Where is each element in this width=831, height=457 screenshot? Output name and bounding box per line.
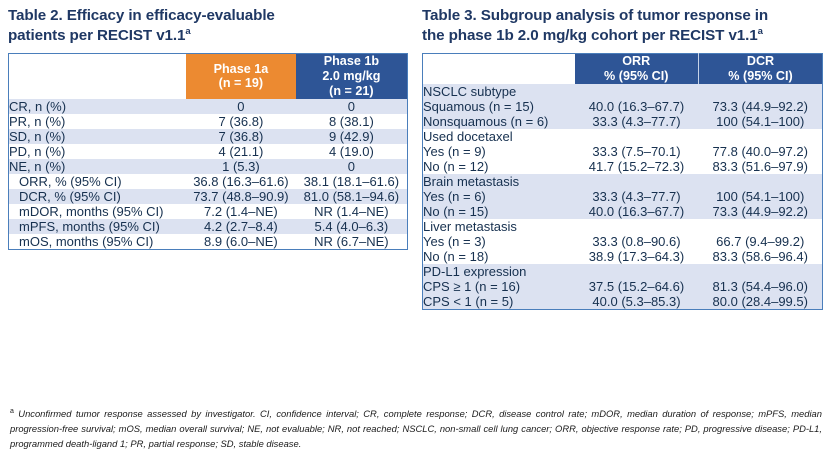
table3-header-row: ORR % (95% CI) DCR % (95% CI) xyxy=(423,54,823,84)
row-value-phase1b: NR (1.4–NE) xyxy=(296,204,408,219)
row-label: Nonsquamous (n = 6) xyxy=(423,114,575,129)
table2-panel: Table 2. Efficacy in efficacy-evaluable … xyxy=(8,6,408,310)
group-name: Used docetaxel xyxy=(423,129,823,144)
row-value-dcr: 80.0 (28.4–99.5) xyxy=(699,294,823,310)
table-row: NE, n (%) 1 (5.3) 0 xyxy=(9,159,408,174)
table2-efficacy: Phase 1a (n = 19) Phase 1b 2.0 mg/kg (n … xyxy=(8,53,408,250)
table3-header-dcr: DCR % (95% CI) xyxy=(699,54,823,84)
footnote-marker: a xyxy=(10,408,14,415)
row-value-phase1a: 7 (36.8) xyxy=(186,114,296,129)
row-label: No (n = 18) xyxy=(423,249,575,264)
row-label: ORR, % (95% CI) xyxy=(9,174,187,189)
row-value-phase1b: 4 (19.0) xyxy=(296,144,408,159)
group-header-row: Used docetaxel xyxy=(423,129,823,144)
row-value-phase1a: 1 (5.3) xyxy=(186,159,296,174)
row-value-orr: 37.5 (15.2–64.6) xyxy=(575,279,699,294)
row-value-dcr: 83.3 (58.6–96.4) xyxy=(699,249,823,264)
table3-panel: Table 3. Subgroup analysis of tumor resp… xyxy=(422,6,823,310)
row-value-dcr: 73.3 (44.9–92.2) xyxy=(699,99,823,114)
row-label: No (n = 12) xyxy=(423,159,575,174)
table2-header-phase1a: Phase 1a (n = 19) xyxy=(186,54,296,99)
table-row: mOS, months (95% CI) 8.9 (6.0–NE) NR (6.… xyxy=(9,234,408,250)
table-row: Yes (n = 9) 33.3 (7.5–70.1) 77.8 (40.0–9… xyxy=(423,144,823,159)
row-value-phase1b: 38.1 (18.1–61.6) xyxy=(296,174,408,189)
row-label: Yes (n = 3) xyxy=(423,234,575,249)
row-label: DCR, % (95% CI) xyxy=(9,189,187,204)
table2-header-phase1b: Phase 1b 2.0 mg/kg (n = 21) xyxy=(296,54,408,99)
group-name: PD-L1 expression xyxy=(423,264,823,279)
table-row: Yes (n = 6) 33.3 (4.3–77.7) 100 (54.1–10… xyxy=(423,189,823,204)
row-value-orr: 38.9 (17.3–64.3) xyxy=(575,249,699,264)
row-label: No (n = 15) xyxy=(423,204,575,219)
table-row: No (n = 18) 38.9 (17.3–64.3) 83.3 (58.6–… xyxy=(423,249,823,264)
row-value-orr: 40.0 (5.3–85.3) xyxy=(575,294,699,310)
row-value-phase1b: 0 xyxy=(296,159,408,174)
table2-header-phase1b-line3: (n = 21) xyxy=(329,84,373,98)
table-row: DCR, % (95% CI) 73.7 (48.8–90.9) 81.0 (5… xyxy=(9,189,408,204)
group-header-row: PD-L1 expression xyxy=(423,264,823,279)
table3-header-dcr-line2: % (95% CI) xyxy=(728,69,792,83)
table-row: CPS ≥ 1 (n = 16) 37.5 (15.2–64.6) 81.3 (… xyxy=(423,279,823,294)
table3-header-orr-line2: % (95% CI) xyxy=(604,69,668,83)
table-row: CPS < 1 (n = 5) 40.0 (5.3–85.3) 80.0 (28… xyxy=(423,294,823,310)
table3-subgroup: ORR % (95% CI) DCR % (95% CI) NSCLC subt… xyxy=(422,53,823,310)
poster-tables-page: Table 2. Efficacy in efficacy-evaluable … xyxy=(0,0,831,457)
row-value-orr: 41.7 (15.2–72.3) xyxy=(575,159,699,174)
row-value-phase1a: 4.2 (2.7–8.4) xyxy=(186,219,296,234)
table2-header-phase1a-line2: (n = 19) xyxy=(219,76,263,90)
row-value-dcr: 100 (54.1–100) xyxy=(699,189,823,204)
table-row: No (n = 15) 40.0 (16.3–67.7) 73.3 (44.9–… xyxy=(423,204,823,219)
row-label: SD, n (%) xyxy=(9,129,187,144)
row-label: mOS, months (95% CI) xyxy=(9,234,187,250)
row-value-phase1b: 8 (38.1) xyxy=(296,114,408,129)
table2-header-phase1b-line2: 2.0 mg/kg xyxy=(322,69,380,83)
row-label: mDOR, months (95% CI) xyxy=(9,204,187,219)
table3-title-footnote-marker: a xyxy=(758,26,763,37)
table3-header: ORR % (95% CI) DCR % (95% CI) xyxy=(423,54,823,84)
subgroup-block-used-docetaxel: Used docetaxel Yes (n = 9) 33.3 (7.5–70.… xyxy=(423,129,823,174)
row-value-phase1a: 4 (21.1) xyxy=(186,144,296,159)
row-label: Yes (n = 9) xyxy=(423,144,575,159)
row-value-phase1b: 9 (42.9) xyxy=(296,129,408,144)
table-row: No (n = 12) 41.7 (15.2–72.3) 83.3 (51.6–… xyxy=(423,159,823,174)
table-row: Yes (n = 3) 33.3 (0.8–90.6) 66.7 (9.4–99… xyxy=(423,234,823,249)
table-row: PR, n (%) 7 (36.8) 8 (38.1) xyxy=(9,114,408,129)
table-row: Squamous (n = 15) 40.0 (16.3–67.7) 73.3 … xyxy=(423,99,823,114)
footnote: a Unconfirmed tumor response assessed by… xyxy=(10,406,822,452)
table2-title-line1: Table 2. Efficacy in efficacy-evaluable xyxy=(8,7,275,24)
group-header-row: NSCLC subtype xyxy=(423,84,823,99)
group-name: Brain metastasis xyxy=(423,174,823,189)
table2-title-footnote-marker: a xyxy=(185,26,190,37)
table-row: CR, n (%) 0 0 xyxy=(9,99,408,114)
row-label: CPS ≥ 1 (n = 16) xyxy=(423,279,575,294)
row-label: PD, n (%) xyxy=(9,144,187,159)
row-value-dcr: 77.8 (40.0–97.2) xyxy=(699,144,823,159)
row-value-orr: 40.0 (16.3–67.7) xyxy=(575,99,699,114)
row-value-phase1b: NR (6.7–NE) xyxy=(296,234,408,250)
table-row: mPFS, months (95% CI) 4.2 (2.7–8.4) 5.4 … xyxy=(9,219,408,234)
row-value-orr: 33.3 (4.3–77.7) xyxy=(575,189,699,204)
row-value-phase1b: 0 xyxy=(296,99,408,114)
row-value-phase1a: 7 (36.8) xyxy=(186,129,296,144)
row-label: Yes (n = 6) xyxy=(423,189,575,204)
row-label: CR, n (%) xyxy=(9,99,187,114)
table-row: mDOR, months (95% CI) 7.2 (1.4–NE) NR (1… xyxy=(9,204,408,219)
row-value-orr: 33.3 (0.8–90.6) xyxy=(575,234,699,249)
row-value-dcr: 73.3 (44.9–92.2) xyxy=(699,204,823,219)
row-value-phase1a: 8.9 (6.0–NE) xyxy=(186,234,296,250)
row-value-orr: 40.0 (16.3–67.7) xyxy=(575,204,699,219)
row-value-phase1a: 36.8 (16.3–61.6) xyxy=(186,174,296,189)
row-value-phase1b: 5.4 (4.0–6.3) xyxy=(296,219,408,234)
group-name: NSCLC subtype xyxy=(423,84,823,99)
table2-header-phase1b-line1: Phase 1b xyxy=(324,54,379,68)
table2-header: Phase 1a (n = 19) Phase 1b 2.0 mg/kg (n … xyxy=(9,54,408,99)
table-row: Nonsquamous (n = 6) 33.3 (4.3–77.7) 100 … xyxy=(423,114,823,129)
table2-header-phase1a-line1: Phase 1a xyxy=(214,62,269,76)
table2-header-row: Phase 1a (n = 19) Phase 1b 2.0 mg/kg (n … xyxy=(9,54,408,99)
footnote-text: Unconfirmed tumor response assessed by i… xyxy=(10,408,822,449)
row-label: Squamous (n = 15) xyxy=(423,99,575,114)
row-value-phase1a: 7.2 (1.4–NE) xyxy=(186,204,296,219)
table2-title: Table 2. Efficacy in efficacy-evaluable … xyxy=(8,6,408,46)
table2-body: CR, n (%) 0 0 PR, n (%) 7 (36.8) 8 (38.1… xyxy=(9,99,408,250)
row-value-dcr: 66.7 (9.4–99.2) xyxy=(699,234,823,249)
table3-title-line1: Table 3. Subgroup analysis of tumor resp… xyxy=(422,7,768,24)
table3-title-line2: the phase 1b 2.0 mg/kg cohort per RECIST… xyxy=(422,27,758,44)
subgroup-block-pdl1-expression: PD-L1 expression CPS ≥ 1 (n = 16) 37.5 (… xyxy=(423,264,823,310)
table3-header-blank xyxy=(423,54,575,84)
table-row: SD, n (%) 7 (36.8) 9 (42.9) xyxy=(9,129,408,144)
group-header-row: Brain metastasis xyxy=(423,174,823,189)
table3-title: Table 3. Subgroup analysis of tumor resp… xyxy=(422,6,823,46)
table3-header-dcr-line1: DCR xyxy=(747,54,774,68)
table3-header-orr-line1: ORR xyxy=(622,54,650,68)
table-row: ORR, % (95% CI) 36.8 (16.3–61.6) 38.1 (1… xyxy=(9,174,408,189)
row-label: CPS < 1 (n = 5) xyxy=(423,294,575,310)
row-label: NE, n (%) xyxy=(9,159,187,174)
group-header-row: Liver metastasis xyxy=(423,219,823,234)
subgroup-block-nsclc-subtype: NSCLC subtype Squamous (n = 15) 40.0 (16… xyxy=(423,84,823,129)
tables-container: Table 2. Efficacy in efficacy-evaluable … xyxy=(0,0,831,310)
table2-title-line2: patients per RECIST v1.1 xyxy=(8,27,185,44)
group-name: Liver metastasis xyxy=(423,219,823,234)
row-label: PR, n (%) xyxy=(9,114,187,129)
row-value-orr: 33.3 (7.5–70.1) xyxy=(575,144,699,159)
subgroup-block-liver-metastasis: Liver metastasis Yes (n = 3) 33.3 (0.8–9… xyxy=(423,219,823,264)
table3-header-orr: ORR % (95% CI) xyxy=(575,54,699,84)
row-value-dcr: 100 (54.1–100) xyxy=(699,114,823,129)
row-value-dcr: 81.3 (54.4–96.0) xyxy=(699,279,823,294)
subgroup-block-brain-metastasis: Brain metastasis Yes (n = 6) 33.3 (4.3–7… xyxy=(423,174,823,219)
row-value-phase1b: 81.0 (58.1–94.6) xyxy=(296,189,408,204)
row-value-orr: 33.3 (4.3–77.7) xyxy=(575,114,699,129)
row-label: mPFS, months (95% CI) xyxy=(9,219,187,234)
table2-header-blank xyxy=(9,54,187,99)
row-value-phase1a: 0 xyxy=(186,99,296,114)
row-value-phase1a: 73.7 (48.8–90.9) xyxy=(186,189,296,204)
table-row: PD, n (%) 4 (21.1) 4 (19.0) xyxy=(9,144,408,159)
row-value-dcr: 83.3 (51.6–97.9) xyxy=(699,159,823,174)
